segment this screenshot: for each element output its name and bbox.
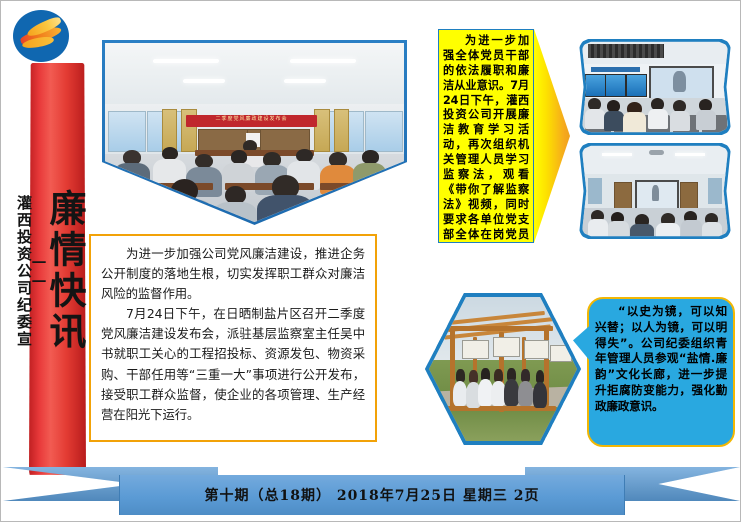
conference-room-scene: 二季度党风廉政建设发布会	[105, 43, 404, 222]
masthead-text: 廉情快讯 —— 灌西投资公司纪委宣	[31, 67, 83, 475]
main-article: 为进一步加强公司党风廉洁建设，推进企务公开制度的落地生根，切实发挥职工群众对廉洁…	[89, 234, 377, 442]
video-viewing-scene	[582, 144, 728, 238]
article-paragraph-1: 为进一步加强公司党风廉洁建设，推进企务公开制度的落地生根，切实发挥职工群众对廉洁…	[101, 244, 365, 304]
masthead-title-text: 廉情快讯	[46, 189, 83, 353]
education-callout-text: 为进一步加强全体党员干部的依法履职和廉洁从业意识。7月24日下午，灌西投资公司开…	[443, 34, 529, 240]
video-viewing-photo	[579, 141, 731, 241]
education-callout: 为进一步加强全体党员干部的依法履职和廉洁从业意识。7月24日下午，灌西投资公司开…	[438, 29, 534, 243]
callout-tail	[534, 29, 570, 243]
issue-footer-text: 第十期（总18期） 2018年7月25日 星期三 2页	[204, 485, 539, 505]
photo-content	[582, 40, 728, 134]
company-logo	[13, 10, 69, 62]
culture-corridor-photo	[425, 293, 581, 445]
conference-room-photo: 二季度党风廉政建设发布会	[102, 40, 407, 225]
training-room-photo	[579, 37, 731, 137]
article-paragraph-2: 7月24日下午，在日晒制盐片区召开二季度党风廉洁建设发布会，派驻基层监察室主任吴…	[101, 304, 365, 425]
newsletter-page: 廉情快讯 —— 灌西投资公司纪委宣 二季度党风廉政建设发布会	[0, 0, 741, 522]
masthead-subtitle: 灌西投资公司纪委宣	[16, 195, 31, 348]
culture-callout: “以史为镜，可以知兴替；以人为镜，可以明得失”。公司纪委组织青年管理人员参观“盐…	[587, 297, 735, 447]
training-room-scene	[582, 40, 728, 134]
photo-content	[582, 144, 728, 238]
culture-callout-text: “以史为镜，可以知兴替；以人为镜，可以明得失”。公司纪委组织青年管理人员参观“盐…	[595, 304, 727, 441]
photo-content: 二季度党风廉政建设发布会	[105, 43, 404, 222]
issue-footer: 第十期（总18期） 2018年7月25日 星期三 2页	[119, 475, 625, 515]
photo-banner-text: 二季度党风廉政建设发布会	[186, 115, 318, 128]
masthead-dash: ——	[31, 252, 46, 290]
